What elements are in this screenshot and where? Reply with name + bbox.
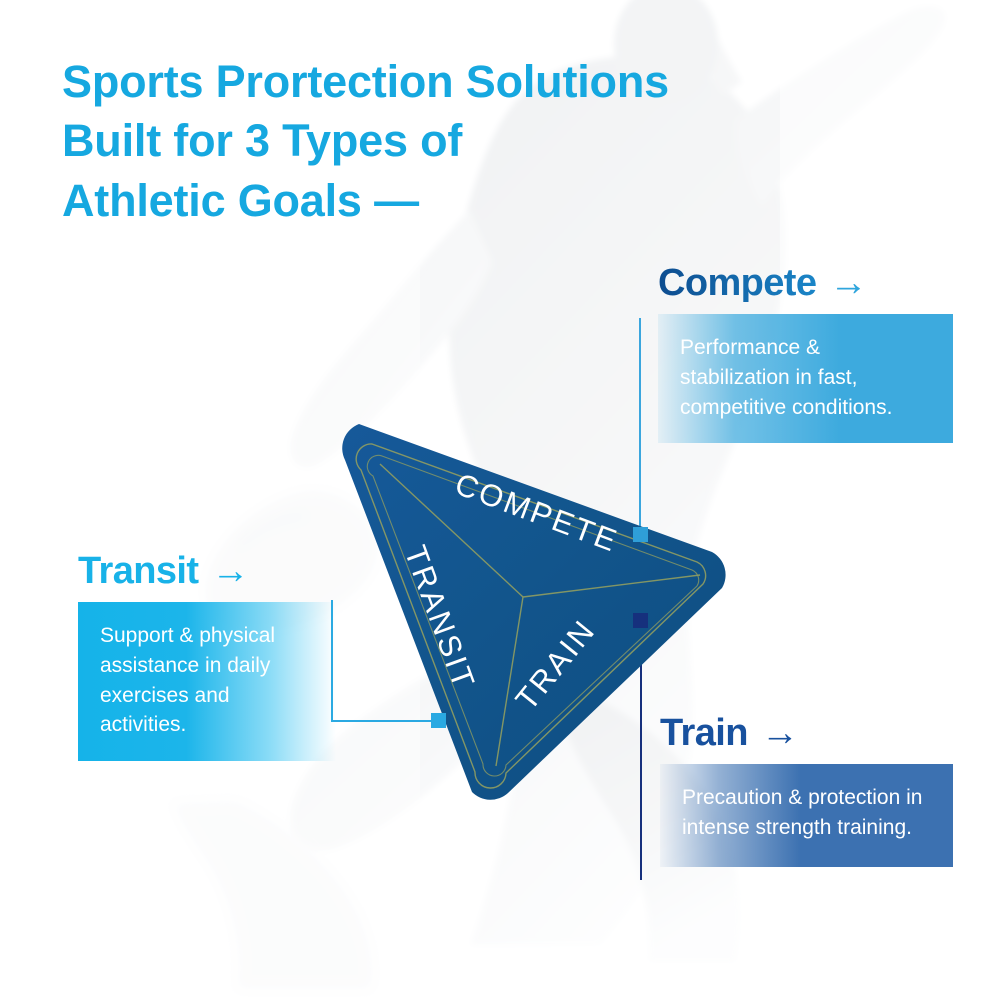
callout-compete-body: Performance & stabilization in fast, com… [658, 314, 953, 443]
callout-train-heading-text: Train [660, 714, 748, 752]
callout-transit-heading: Transit → [78, 552, 336, 590]
callout-transit[interactable]: Transit → Support & physical assistance … [78, 552, 336, 761]
connector-dot-compete [633, 527, 648, 542]
callout-transit-body: Support & physical assistance in daily e… [78, 602, 336, 761]
page-title-line-2: Built for 3 Types of [62, 111, 852, 170]
callout-transit-heading-text: Transit [78, 552, 198, 590]
arrow-right-icon: → [211, 552, 248, 590]
callout-train[interactable]: Train → Precaution & protection in inten… [660, 714, 953, 867]
infographic-canvas: Sports Prortection Solutions Built for 3… [0, 0, 1000, 1000]
connector-dot-train [633, 613, 648, 628]
callout-train-body: Precaution & protection in intense stren… [660, 764, 953, 867]
connector-dot-transit [431, 713, 446, 728]
callout-compete[interactable]: Compete → Performance & stabilization in… [658, 264, 953, 443]
arrow-right-icon: → [761, 714, 798, 752]
arrow-right-icon: → [829, 264, 866, 302]
callout-compete-heading-text: Compete [658, 264, 816, 302]
page-title-line-3: Athletic Goals — [62, 171, 852, 230]
page-title-line-1: Sports Prortection Solutions [62, 52, 852, 111]
page-title: Sports Prortection Solutions Built for 3… [62, 52, 852, 230]
callout-compete-heading: Compete → [658, 264, 953, 302]
callout-train-heading: Train → [660, 714, 953, 752]
